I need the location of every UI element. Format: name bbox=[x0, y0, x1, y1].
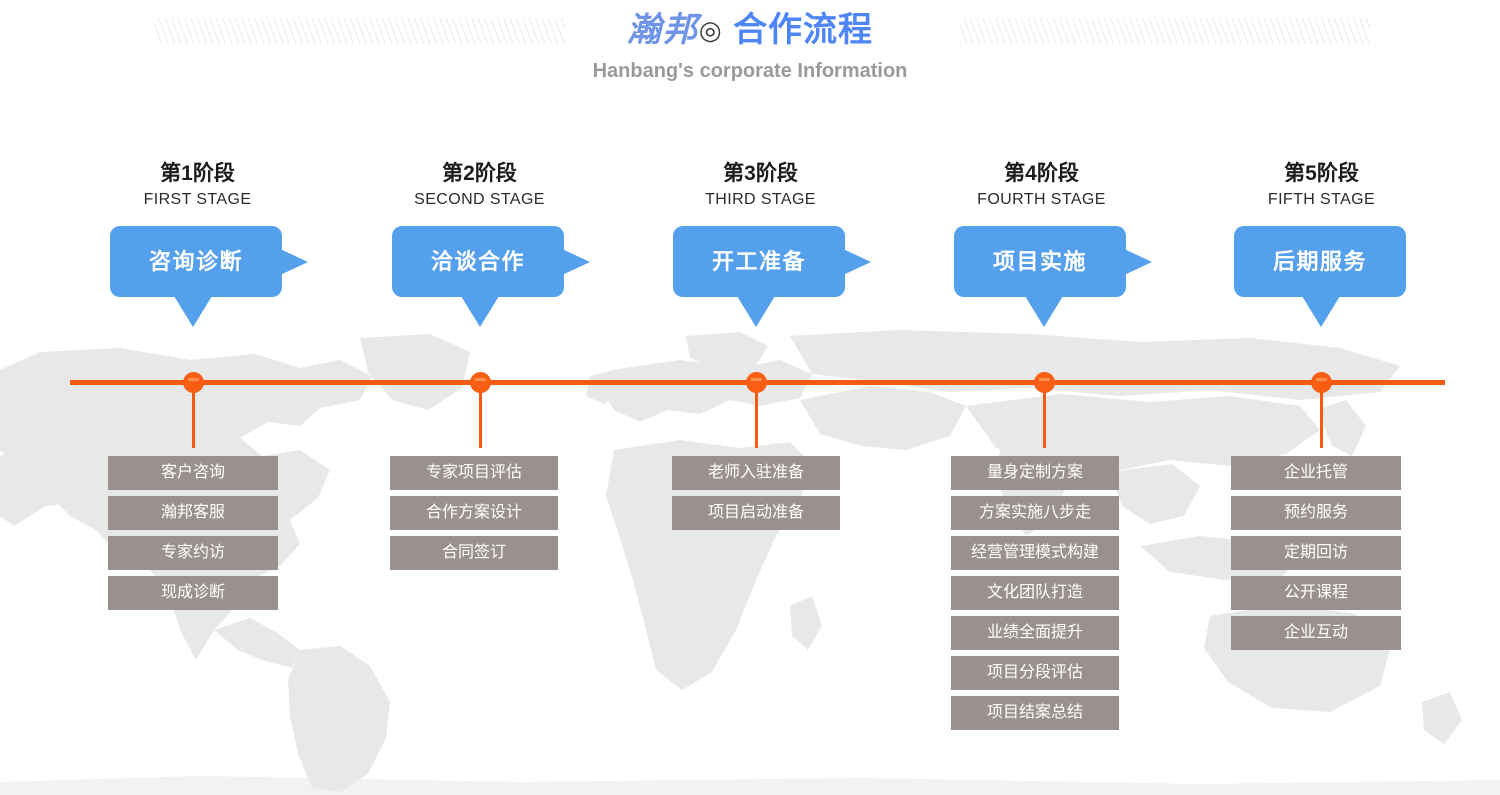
timeline-node-4[interactable] bbox=[1034, 372, 1055, 393]
stage-item[interactable]: 企业互动 bbox=[1231, 616, 1401, 650]
stage-title-cn-3: 第3阶段 bbox=[673, 160, 848, 188]
stage-title-cn-5: 第5阶段 bbox=[1234, 160, 1409, 188]
stage-item[interactable]: 公开课程 bbox=[1231, 576, 1401, 610]
stage-item[interactable]: 企业托管 bbox=[1231, 456, 1401, 490]
timeline-node-2[interactable] bbox=[470, 372, 491, 393]
stage-item[interactable]: 文化团队打造 bbox=[951, 576, 1119, 610]
stage-column-5: 第5阶段FIFTH STAGE后期服务 bbox=[1234, 160, 1409, 331]
stage-heading-2: 第2阶段SECOND STAGE bbox=[392, 160, 567, 212]
page-subtitle: Hanbang's corporate Information bbox=[0, 58, 1500, 84]
stage-heading-1: 第1阶段FIRST STAGE bbox=[110, 160, 285, 212]
stage-column-2: 第2阶段SECOND STAGE洽谈合作 bbox=[392, 160, 567, 331]
stage-bubble-zone-1: 咨询诊断 bbox=[110, 226, 285, 331]
page-title: 瀚邦◎ 合作流程 bbox=[0, 8, 1500, 52]
bubble-pointer-icon-1 bbox=[174, 296, 212, 327]
stage-item[interactable]: 方案实施八步走 bbox=[951, 496, 1119, 530]
stage-title-en-3: THIRD STAGE bbox=[673, 188, 848, 212]
stage-title-cn-4: 第4阶段 bbox=[954, 160, 1129, 188]
stage-item[interactable]: 项目分段评估 bbox=[951, 656, 1119, 690]
stage-title-cn-2: 第2阶段 bbox=[392, 160, 567, 188]
stage-bubble-label-2: 洽谈合作 bbox=[431, 249, 525, 275]
timeline-node-1[interactable] bbox=[183, 372, 204, 393]
timeline-node-5[interactable] bbox=[1311, 372, 1332, 393]
stage-bubble-zone-5: 后期服务 bbox=[1234, 226, 1409, 331]
stage-bubble-1[interactable]: 咨询诊断 bbox=[110, 226, 282, 297]
cooperation-process-infographic: 瀚邦◎ 合作流程 Hanbang's corporate Information… bbox=[0, 0, 1500, 795]
stage-item[interactable]: 瀚邦客服 bbox=[108, 496, 278, 530]
stage-bubble-label-3: 开工准备 bbox=[712, 249, 806, 275]
stage-item-list-3: 老师入驻准备项目启动准备 bbox=[672, 456, 840, 536]
bubble-pointer-icon-4 bbox=[1025, 296, 1063, 327]
timeline-connector-5 bbox=[1320, 392, 1323, 448]
stage-bubble-zone-2: 洽谈合作 bbox=[392, 226, 567, 331]
title-block: 瀚邦◎ 合作流程 Hanbang's corporate Information bbox=[0, 8, 1500, 84]
stage-title-en-4: FOURTH STAGE bbox=[954, 188, 1129, 212]
stage-bubble-2[interactable]: 洽谈合作 bbox=[392, 226, 564, 297]
stage-item-list-1: 客户咨询瀚邦客服专家约访现成诊断 bbox=[108, 456, 278, 616]
stage-item[interactable]: 老师入驻准备 bbox=[672, 456, 840, 490]
stage-bubble-3[interactable]: 开工准备 bbox=[673, 226, 845, 297]
stage-item-list-2: 专家项目评估合作方案设计合同签订 bbox=[390, 456, 558, 576]
bubble-next-arrow-icon-2 bbox=[560, 248, 590, 276]
stage-column-1: 第1阶段FIRST STAGE咨询诊断 bbox=[110, 160, 285, 331]
stage-bubble-label-4: 项目实施 bbox=[993, 249, 1087, 275]
stage-title-en-2: SECOND STAGE bbox=[392, 188, 567, 212]
stage-item-list-5: 企业托管预约服务定期回访公开课程企业互动 bbox=[1231, 456, 1401, 656]
stage-heading-5: 第5阶段FIFTH STAGE bbox=[1234, 160, 1409, 212]
stage-heading-4: 第4阶段FOURTH STAGE bbox=[954, 160, 1129, 212]
stage-item[interactable]: 业绩全面提升 bbox=[951, 616, 1119, 650]
stage-title-cn-1: 第1阶段 bbox=[110, 160, 285, 188]
timeline-connector-1 bbox=[192, 392, 195, 448]
bubble-next-arrow-icon-4 bbox=[1122, 248, 1152, 276]
stage-item[interactable]: 定期回访 bbox=[1231, 536, 1401, 570]
stage-item[interactable]: 经营管理模式构建 bbox=[951, 536, 1119, 570]
stage-item[interactable]: 合同签订 bbox=[390, 536, 558, 570]
stage-bubble-zone-3: 开工准备 bbox=[673, 226, 848, 331]
timeline-connector-2 bbox=[479, 392, 482, 448]
page-title-text: 合作流程 bbox=[733, 11, 873, 49]
stage-column-4: 第4阶段FOURTH STAGE项目实施 bbox=[954, 160, 1129, 331]
stage-item-list-4: 量身定制方案方案实施八步走经营管理模式构建文化团队打造业绩全面提升项目分段评估项… bbox=[951, 456, 1119, 736]
stage-column-3: 第3阶段THIRD STAGE开工准备 bbox=[673, 160, 848, 331]
bubble-pointer-icon-5 bbox=[1302, 296, 1340, 327]
stage-item[interactable]: 专家约访 bbox=[108, 536, 278, 570]
brand-name: 瀚邦 bbox=[627, 10, 699, 50]
stage-title-en-1: FIRST STAGE bbox=[110, 188, 285, 212]
stage-item[interactable]: 项目结案总结 bbox=[951, 696, 1119, 730]
timeline-connector-3 bbox=[755, 392, 758, 448]
page-header: 瀚邦◎ 合作流程 Hanbang's corporate Information bbox=[0, 0, 1500, 110]
stage-bubble-5[interactable]: 后期服务 bbox=[1234, 226, 1406, 297]
stage-title-en-5: FIFTH STAGE bbox=[1234, 188, 1409, 212]
stage-item[interactable]: 专家项目评估 bbox=[390, 456, 558, 490]
stage-item[interactable]: 客户咨询 bbox=[108, 456, 278, 490]
stage-bubble-label-1: 咨询诊断 bbox=[149, 249, 243, 275]
stage-bubble-label-5: 后期服务 bbox=[1273, 249, 1367, 275]
timeline-node-3[interactable] bbox=[746, 372, 767, 393]
stage-item[interactable]: 合作方案设计 bbox=[390, 496, 558, 530]
bubble-pointer-icon-3 bbox=[737, 296, 775, 327]
stage-item[interactable]: 现成诊断 bbox=[108, 576, 278, 610]
brand-mark-icon: ◎ bbox=[699, 15, 723, 45]
bubble-pointer-icon-2 bbox=[461, 296, 499, 327]
stage-bubble-4[interactable]: 项目实施 bbox=[954, 226, 1126, 297]
stage-item[interactable]: 项目启动准备 bbox=[672, 496, 840, 530]
bubble-next-arrow-icon-3 bbox=[841, 248, 871, 276]
stage-item[interactable]: 预约服务 bbox=[1231, 496, 1401, 530]
stage-heading-3: 第3阶段THIRD STAGE bbox=[673, 160, 848, 212]
bubble-next-arrow-icon-1 bbox=[278, 248, 308, 276]
stage-bubble-zone-4: 项目实施 bbox=[954, 226, 1129, 331]
timeline-connector-4 bbox=[1043, 392, 1046, 448]
stage-item[interactable]: 量身定制方案 bbox=[951, 456, 1119, 490]
